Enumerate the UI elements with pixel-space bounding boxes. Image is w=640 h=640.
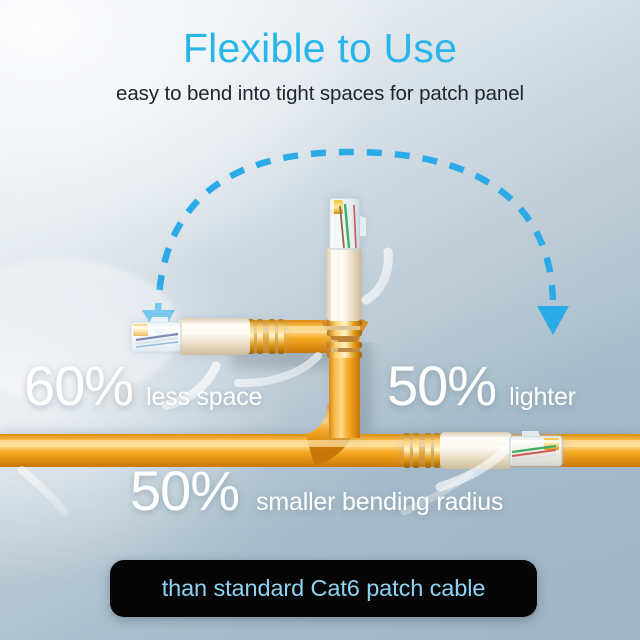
stat-bending-radius-caption: smaller bending radius — [256, 490, 503, 515]
stat-less-space: 60% less space — [24, 358, 262, 414]
stat-lighter-caption: lighter — [509, 385, 576, 410]
stat-lighter: 50% lighter — [387, 358, 576, 414]
page-subtitle: easy to bend into tight spaces for patch… — [0, 80, 640, 108]
page-title: Flexible to Use — [0, 22, 640, 74]
stat-less-space-caption: less space — [146, 385, 262, 410]
comparison-banner: than standard Cat6 patch cable — [110, 560, 537, 617]
arrow-head-right-icon — [537, 306, 569, 335]
stat-bending-radius: 50% smaller bending radius — [130, 463, 503, 519]
stat-lighter-value: 50% — [387, 358, 496, 414]
vertical-connector — [326, 198, 366, 438]
stat-bending-radius-value: 50% — [130, 463, 239, 519]
stat-less-space-value: 60% — [24, 358, 133, 414]
product-feature-image: Flexible to Use easy to bend into tight … — [0, 0, 640, 640]
comparison-banner-text: than standard Cat6 patch cable — [162, 577, 486, 601]
